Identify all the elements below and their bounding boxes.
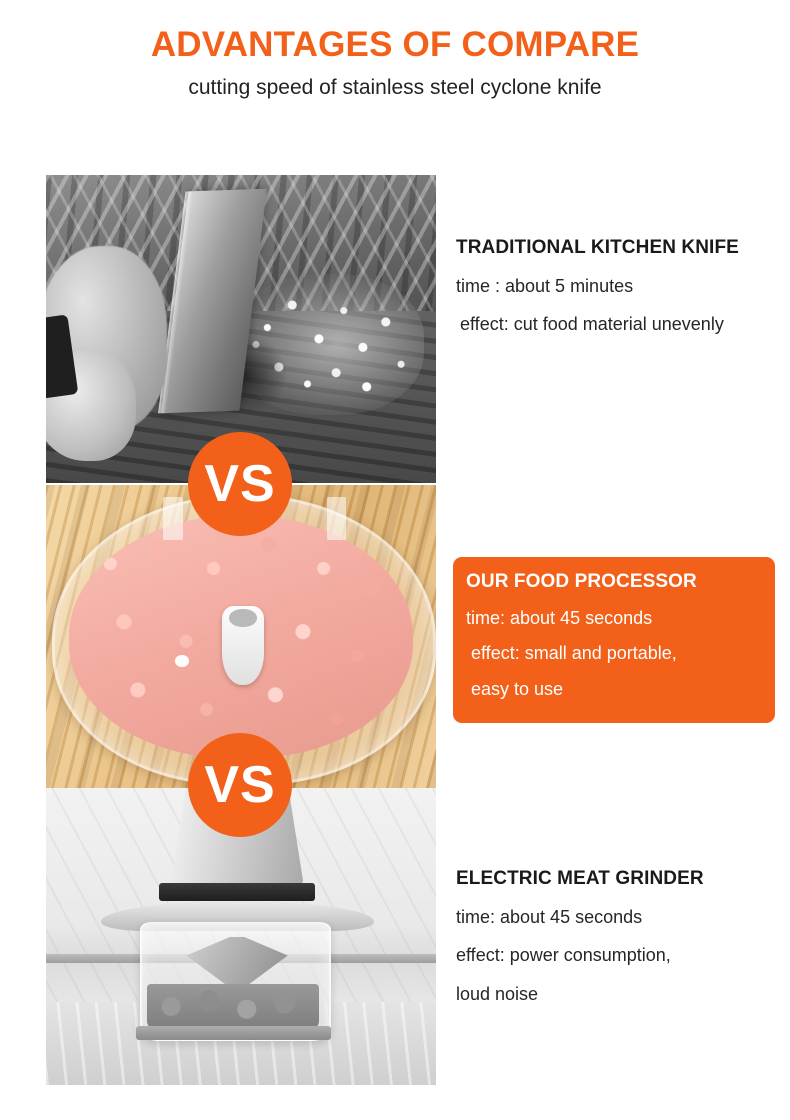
comparison-effect-continued-line: loud noise — [456, 983, 783, 1006]
grinder-bowl-base — [136, 1026, 331, 1041]
comparison-effect-line: effect: small and portable, — [471, 642, 775, 665]
header: ADVANTAGES OF COMPARE cutting speed of s… — [0, 0, 790, 100]
meat-highlight-dot — [175, 655, 189, 668]
processor-center-hub — [222, 606, 265, 685]
comparison-photo-column — [46, 175, 436, 1085]
bowl-tab-left — [163, 497, 183, 539]
comparison-time-line: time: about 45 seconds — [466, 607, 775, 630]
comparison-text-our-food-processor: OUR FOOD PROCESSOR time: about 45 second… — [453, 557, 775, 723]
comparison-time-line: time : about 5 minutes — [456, 275, 783, 298]
comparison-effect-continued-line: easy to use — [471, 678, 775, 701]
vs-badge-top: VS — [188, 432, 292, 536]
meat-chunks-shape — [147, 984, 319, 1029]
page-title: ADVANTAGES OF COMPARE — [0, 0, 790, 64]
vs-badge-bottom: VS — [188, 733, 292, 837]
vs-badge-top-label: VS — [204, 458, 275, 510]
comparison-text-electric-meat-grinder: ELECTRIC MEAT GRINDER time: about 45 sec… — [453, 868, 783, 1021]
comparison-heading: ELECTRIC MEAT GRINDER — [456, 868, 783, 890]
vs-badge-bottom-label: VS — [204, 759, 275, 811]
infographic-page: ADVANTAGES OF COMPARE cutting speed of s… — [0, 0, 790, 1120]
comparison-effect-line: effect: cut food material unevenly — [460, 313, 783, 336]
comparison-effect-line: effect: power consumption, — [456, 944, 783, 967]
page-subtitle: cutting speed of stainless steel cyclone… — [0, 64, 790, 100]
comparison-time-line: time: about 45 seconds — [456, 906, 783, 929]
bowl-tab-right — [327, 497, 347, 539]
comparison-heading: TRADITIONAL KITCHEN KNIFE — [456, 237, 783, 259]
comparison-heading: OUR FOOD PROCESSOR — [466, 571, 775, 593]
comparison-text-traditional-kitchen-knife: TRADITIONAL KITCHEN KNIFE time : about 5… — [453, 237, 783, 352]
grinder-collar — [159, 883, 315, 901]
